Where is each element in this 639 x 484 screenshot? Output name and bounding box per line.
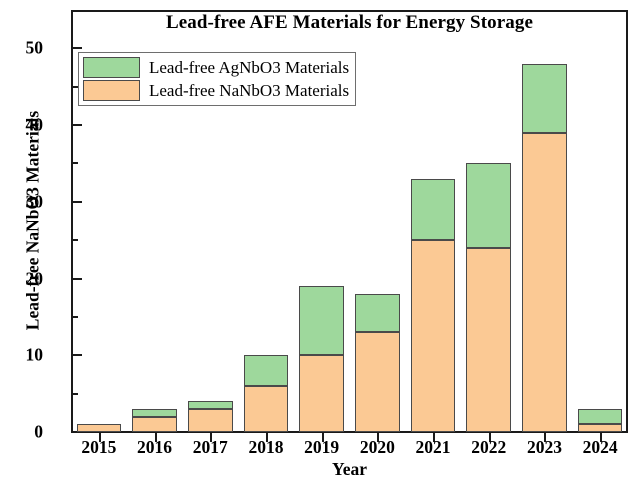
bar-segment-nanbo3[interactable] (411, 240, 456, 432)
bar-stack[interactable] (522, 10, 567, 432)
bar-segment-agnbo3[interactable] (466, 163, 511, 247)
chart-container: Lead-free AFE Materials for Energy Stora… (0, 0, 639, 484)
x-tick-label: 2016 (137, 437, 172, 458)
x-tick-label: 2022 (471, 437, 506, 458)
bar-stack[interactable] (411, 10, 456, 432)
y-tick-label: 40 (0, 115, 43, 136)
x-tick-label: 2023 (527, 437, 562, 458)
bar-segment-agnbo3[interactable] (522, 64, 567, 133)
y-tick-label: 0 (0, 422, 43, 443)
legend-label-nanbo3: Lead-free NaNbO3 Materials (149, 81, 349, 101)
bar-segment-nanbo3[interactable] (244, 386, 289, 432)
y-tick-label: 50 (0, 38, 43, 59)
bar-stack[interactable] (466, 10, 511, 432)
legend-swatch-nanbo3 (83, 80, 140, 101)
y-tick-label: 30 (0, 191, 43, 212)
bar-segment-nanbo3[interactable] (522, 133, 567, 432)
bar-segment-agnbo3[interactable] (578, 409, 623, 424)
bar-segment-nanbo3[interactable] (299, 355, 344, 432)
x-tick-label: 2019 (304, 437, 339, 458)
y-tick-label: 10 (0, 345, 43, 366)
y-axis-title: Lead-free NaNbO3 Materials (23, 56, 44, 386)
bar-segment-agnbo3[interactable] (132, 409, 177, 417)
x-tick-label: 2017 (193, 437, 228, 458)
legend-item: Lead-free NaNbO3 Materials (83, 79, 349, 102)
bar-segment-nanbo3[interactable] (466, 248, 511, 432)
bar-segment-nanbo3[interactable] (355, 332, 400, 432)
x-tick-label: 2024 (583, 437, 618, 458)
x-axis-title: Year (71, 459, 628, 480)
bar-stack[interactable] (578, 10, 623, 432)
bar-segment-nanbo3[interactable] (132, 417, 177, 432)
bar-segment-nanbo3[interactable] (77, 424, 122, 432)
bar-stack[interactable] (355, 10, 400, 432)
legend-item: Lead-free AgNbO3 Materials (83, 56, 349, 79)
bar-segment-nanbo3[interactable] (578, 424, 623, 432)
bar-segment-agnbo3[interactable] (411, 179, 456, 240)
x-tick-label: 2021 (416, 437, 451, 458)
bar-segment-agnbo3[interactable] (244, 355, 289, 386)
bar-segment-agnbo3[interactable] (188, 401, 233, 409)
x-tick-label: 2020 (360, 437, 395, 458)
x-tick-label: 2015 (81, 437, 116, 458)
y-tick-label: 20 (0, 268, 43, 289)
legend-label-agnbo3: Lead-free AgNbO3 Materials (149, 58, 349, 78)
x-tick-label: 2018 (248, 437, 283, 458)
bar-segment-agnbo3[interactable] (355, 294, 400, 332)
bar-segment-agnbo3[interactable] (299, 286, 344, 355)
chart-legend: Lead-free AgNbO3 Materials Lead-free NaN… (78, 52, 356, 106)
legend-swatch-agnbo3 (83, 57, 140, 78)
bar-segment-nanbo3[interactable] (188, 409, 233, 432)
